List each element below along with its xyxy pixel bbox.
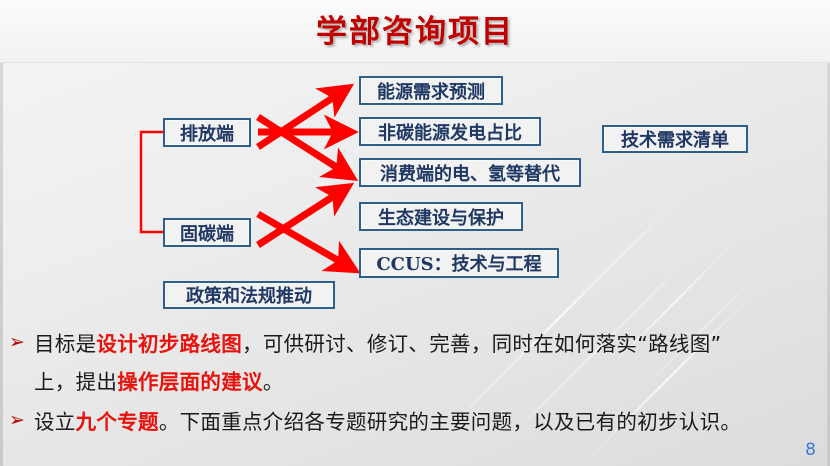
- highlight-run: 九个专题: [76, 410, 159, 434]
- bullet-item: ➢ 设立九个专题。下面重点介绍各专题研究的主要问题，以及已有的初步认识。: [0, 403, 830, 441]
- node-ecological-construction-protection[interactable]: 生态建设与保护: [359, 202, 523, 231]
- node-policy[interactable]: 政策和法规推动: [163, 281, 335, 309]
- page-title: 学部咨询项目: [0, 6, 830, 51]
- text-run: 。下面重点介绍各专题研究的主要问题，以及已有的初步认识。: [159, 410, 741, 434]
- bullet-line: 设立九个专题。下面重点介绍各专题研究的主要问题，以及已有的初步认识。: [34, 403, 741, 441]
- node-emission[interactable]: 排放端: [163, 118, 251, 147]
- arrow-emission-to-energy-demand: [258, 93, 340, 147]
- node-non-carbon-power-share[interactable]: 非碳能源发电占比: [359, 117, 541, 146]
- text-run: ，可供研讨、修订、完善，同时在如何落实“路线图”: [242, 332, 721, 356]
- concept-diagram: 排放端 固碳端 政策和法规推动 技术需求清单 能源需求预测 非碳能源发电占比 消…: [0, 62, 830, 327]
- bullet-list: ➢ 目标是设计初步路线图，可供研讨、修订、完善，同时在如何落实“路线图” 上，提…: [0, 325, 830, 441]
- bullet-line: 目标是设计初步路线图，可供研讨、修订、完善，同时在如何落实“路线图”: [34, 325, 721, 363]
- bullet-text: 设立九个专题。下面重点介绍各专题研究的主要问题，以及已有的初步认识。: [34, 403, 741, 441]
- bullet-item: ➢ 目标是设计初步路线图，可供研讨、修订、完善，同时在如何落实“路线图” 上，提…: [0, 325, 830, 401]
- bullet-text: 目标是设计初步路线图，可供研讨、修订、完善，同时在如何落实“路线图” 上，提出操…: [34, 325, 721, 401]
- node-consumer-electrification-hydrogen[interactable]: 消费端的电、氢等替代: [359, 158, 581, 187]
- slide-canvas: 学部咨询项目 排放端 固碳端 政策和法规推动 技术需求清单 能源需求预测 非碳能…: [0, 0, 830, 466]
- highlight-run: 设计初步路线图: [96, 332, 242, 356]
- page-number: 8: [805, 440, 816, 460]
- highlight-run: 操作层面的建议: [117, 370, 263, 394]
- arrow-emission-to-consumer-substitution: [258, 117, 344, 172]
- node-tech-requirement-list[interactable]: 技术需求清单: [602, 125, 748, 153]
- text-run: 目标是: [34, 332, 96, 356]
- text-run: 。: [263, 370, 284, 394]
- node-carbon-sink[interactable]: 固碳端: [163, 218, 251, 247]
- node-ccus[interactable]: CCUS：技术与工程: [359, 248, 559, 278]
- node-energy-demand-forecast[interactable]: 能源需求预测: [359, 76, 503, 105]
- bracket-connector: [141, 132, 163, 232]
- text-run: 上，提出: [34, 370, 117, 394]
- text-run: 设立: [34, 410, 76, 434]
- bullet-line: 上，提出操作层面的建议。: [34, 363, 721, 401]
- bullet-marker-icon: ➢: [0, 403, 34, 430]
- bullet-marker-icon: ➢: [0, 325, 34, 352]
